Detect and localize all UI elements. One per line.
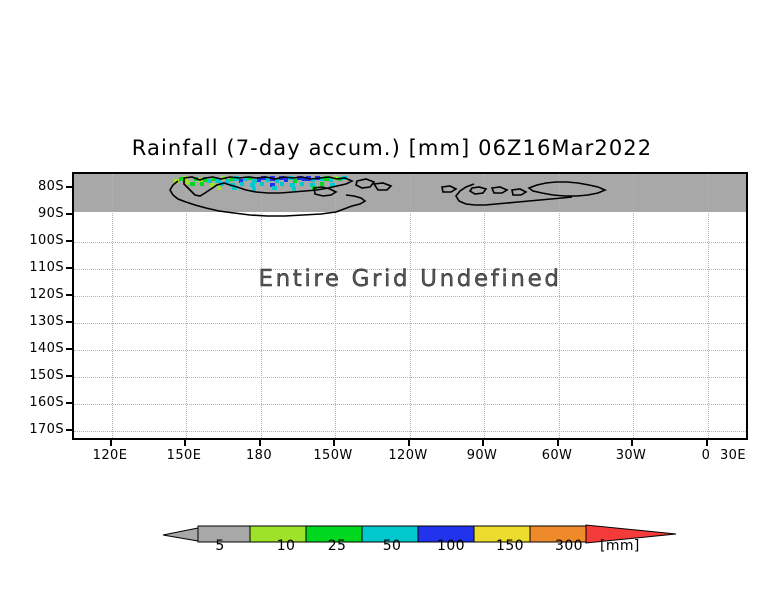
y-tick-label: 160S xyxy=(29,395,64,410)
y-tick-mark xyxy=(66,429,72,431)
x-tick-label: 150E xyxy=(167,448,202,463)
x-tick-label: 90W xyxy=(467,448,498,463)
x-tick-mark xyxy=(259,440,261,446)
x-tick-mark xyxy=(333,440,335,446)
y-tick-mark xyxy=(66,294,72,296)
y-tick-label: 130S xyxy=(29,314,64,329)
y-tick-mark xyxy=(66,186,72,188)
x-tick-label: 180 xyxy=(246,448,272,463)
x-tick-mark xyxy=(184,440,186,446)
y-tick-label: 100S xyxy=(29,233,64,248)
y-tick-mark xyxy=(66,213,72,215)
x-tick-label: 30E xyxy=(720,448,746,463)
colorbar-tick-label: 25 xyxy=(328,538,347,554)
y-tick-label: 140S xyxy=(29,341,64,356)
x-tick-mark xyxy=(408,440,410,446)
y-tick-mark xyxy=(66,402,72,404)
x-tick-label: 30W xyxy=(616,448,647,463)
x-tick-label: 150W xyxy=(313,448,352,463)
x-tick-label: 120E xyxy=(93,448,128,463)
colorbar-tick-label: 50 xyxy=(383,538,402,554)
map-overlay xyxy=(74,174,748,440)
undefined-grid-message: Entire Grid Undefined xyxy=(74,266,746,292)
x-tick-mark xyxy=(110,440,112,446)
y-tick-label: 120S xyxy=(29,287,64,302)
colorbar-tick-label: 5 xyxy=(215,538,224,554)
x-tick-mark xyxy=(482,440,484,446)
y-tick-label: 90S xyxy=(38,206,64,221)
colorbar-tick-label: 300 xyxy=(555,538,583,554)
colorbar-tick-label: 100 xyxy=(437,538,465,554)
x-tick-label: 0 xyxy=(702,448,711,463)
y-tick-label: 110S xyxy=(29,260,64,275)
y-tick-mark xyxy=(66,267,72,269)
y-tick-mark xyxy=(66,375,72,377)
y-axis: 80S 90S 100S 110S 120S 130S 140S 150S 16… xyxy=(0,172,64,440)
x-tick-label: 60W xyxy=(542,448,573,463)
y-tick-mark xyxy=(66,321,72,323)
y-tick-label: 80S xyxy=(38,179,64,194)
y-tick-mark xyxy=(66,240,72,242)
x-tick-mark xyxy=(557,440,559,446)
x-tick-label: 120W xyxy=(388,448,427,463)
x-axis: 120E 150E 180 150W 120W 90W 60W 30W 0 30… xyxy=(0,448,784,468)
plot-area: Entire Grid Undefined xyxy=(72,172,748,440)
colorbar-unit-label: [mm] xyxy=(600,538,640,554)
colorbar-tick-label: 10 xyxy=(277,538,296,554)
x-tick-mark xyxy=(631,440,633,446)
y-tick-label: 170S xyxy=(29,422,64,437)
y-tick-mark xyxy=(66,348,72,350)
colorbar-segment-below-5 xyxy=(163,528,198,541)
page-title: Rainfall (7-day accum.) [mm] 06Z16Mar202… xyxy=(0,136,784,160)
colorbar-tick-label: 150 xyxy=(496,538,524,554)
x-tick-mark xyxy=(706,440,708,446)
coastline xyxy=(442,182,605,205)
y-tick-label: 150S xyxy=(29,368,64,383)
